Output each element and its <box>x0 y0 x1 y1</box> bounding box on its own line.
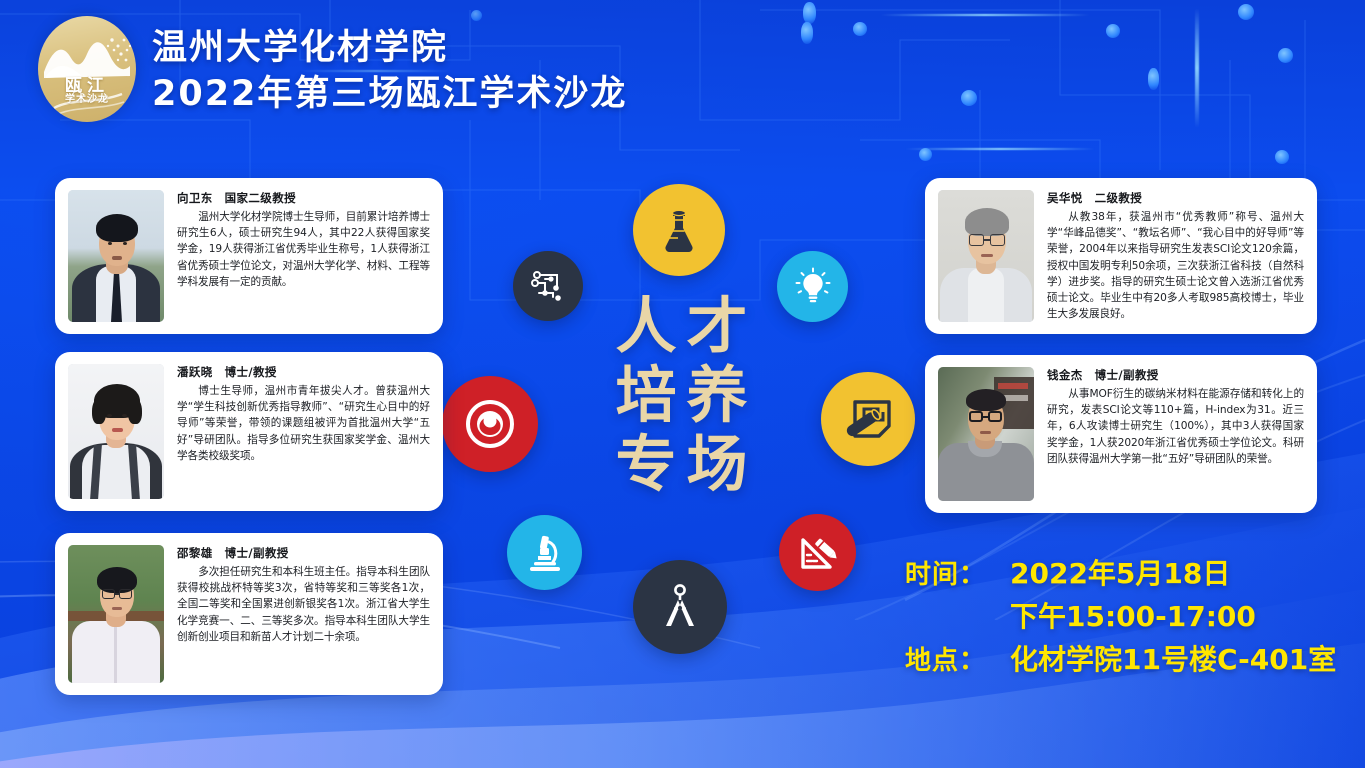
profile-bio: 多次担任研究生和本科生班主任。指导本科生团队获得校挑战杯特等奖3次，省特等奖和三… <box>177 564 430 645</box>
glow-dot <box>961 90 977 106</box>
event-place-row: 地点： 化材学院11号楼C-401室 <box>905 638 1336 678</box>
glow-dot <box>1275 150 1289 164</box>
microscope-icon[interactable] <box>507 515 582 590</box>
profile-name: 潘跃晓 博士/教授 <box>177 364 430 380</box>
diploma-icon[interactable] <box>821 372 915 466</box>
poster-header: 瓯江 学术沙龙 温州大学化材学院 2022年第三场瓯江学术沙龙 <box>38 16 627 122</box>
profile-photo <box>68 364 164 499</box>
event-time-value-2: 下午15:00-17:00 <box>1010 595 1256 635</box>
profile-bio: 博士生导师，温州市青年拔尖人才。曾获温州大学“学生科技创新优秀指导教师”、“研究… <box>177 383 430 464</box>
event-time-label: 时间： <box>905 554 1010 591</box>
diploma-glyph <box>841 392 895 446</box>
circuit-glyph <box>529 267 567 305</box>
event-time-value: 2022年5月18日 <box>1010 552 1230 592</box>
center-title-line-3: 专场 <box>574 431 789 500</box>
logo-subtitle: 学术沙龙 <box>38 90 136 105</box>
profile-body: 邵黎雄 博士/副教授 多次担任研究生和本科生班主任。指导本科生团队获得校挑战杯特… <box>177 545 430 683</box>
profile-photo <box>68 545 164 683</box>
compass-glyph <box>655 582 705 632</box>
profile-name: 向卫东 国家二级教授 <box>177 190 430 206</box>
event-place-label: 地点： <box>905 640 1010 677</box>
event-details: 时间： 2022年5月18日 下午15:00-17:00 地点： 化材学院11号… <box>905 552 1336 681</box>
profile-card[interactable]: 邵黎雄 博士/副教授 多次担任研究生和本科生班主任。指导本科生团队获得校挑战杯特… <box>55 533 443 695</box>
ruler-pencil-icon[interactable] <box>779 514 856 591</box>
profile-body: 潘跃晓 博士/教授 博士生导师，温州市青年拔尖人才。曾获温州大学“学生科技创新优… <box>177 364 430 499</box>
profile-photo <box>68 190 164 322</box>
ruler-pencil-glyph <box>796 531 840 575</box>
profile-photo <box>938 367 1034 501</box>
profile-name: 吴华悦 二级教授 <box>1047 190 1304 206</box>
profile-name: 邵黎雄 博士/副教授 <box>177 545 430 561</box>
profile-body: 向卫东 国家二级教授 温州大学化材学院博士生导师，目前累计培养博士研究生6人，硕… <box>177 190 430 322</box>
center-title-line-2: 培养 <box>574 362 789 431</box>
profile-name: 钱金杰 博士/副教授 <box>1047 367 1304 383</box>
target-eye-icon[interactable] <box>442 376 538 472</box>
glow-line <box>905 148 1095 150</box>
target-glyph <box>461 395 519 453</box>
microscope-glyph <box>524 532 566 574</box>
glow-dot <box>1278 48 1293 63</box>
glow-dot <box>1106 24 1120 38</box>
glow-dot <box>853 22 867 36</box>
profile-card[interactable]: 钱金杰 博士/副教授 从事MOF衍生的碳纳米材料在能源存储和转化上的研究，发表S… <box>925 355 1317 513</box>
glow-dot <box>801 22 813 44</box>
profile-bio: 从事MOF衍生的碳纳米材料在能源存储和转化上的研究，发表SCI论文等110+篇，… <box>1047 386 1304 467</box>
center-title: 人才 培养 专场 <box>574 293 789 500</box>
event-place-value: 化材学院11号楼C-401室 <box>1010 638 1336 678</box>
flask-glyph <box>655 206 703 254</box>
lightbulb-glyph <box>793 267 833 307</box>
glow-dot <box>1238 4 1254 20</box>
glow-line <box>880 14 1090 16</box>
ou-jiang-salon-logo: 瓯江 学术沙龙 <box>38 16 136 122</box>
glow-line <box>1195 8 1199 128</box>
header-title-line2: 2022年第三场瓯江学术沙龙 <box>152 72 627 116</box>
header-title-line1: 温州大学化材学院 <box>152 26 627 70</box>
mountain-icon <box>38 16 136 122</box>
profile-bio: 从教38年，获温州市“优秀教师”称号、温州大学“华峰品德奖”、“教坛名师”、“我… <box>1047 209 1304 322</box>
profile-card[interactable]: 吴华悦 二级教授 从教38年，获温州市“优秀教师”称号、温州大学“华峰品德奖”、… <box>925 178 1317 334</box>
compass-divider-icon[interactable] <box>633 560 727 654</box>
event-time-row: 时间： 2022年5月18日 <box>905 552 1336 592</box>
event-time-row-2: 下午15:00-17:00 <box>905 595 1336 635</box>
glow-dot <box>803 2 816 24</box>
profile-body: 吴华悦 二级教授 从教38年，获温州市“优秀教师”称号、温州大学“华峰品德奖”、… <box>1047 190 1304 322</box>
header-titles: 温州大学化材学院 2022年第三场瓯江学术沙龙 <box>152 22 627 116</box>
profile-bio: 温州大学化材学院博士生导师，目前累计培养博士研究生6人，硕士研究生94人，其中2… <box>177 209 430 290</box>
profile-body: 钱金杰 博士/副教授 从事MOF衍生的碳纳米材料在能源存储和转化上的研究，发表S… <box>1047 367 1304 501</box>
glow-dot <box>1148 68 1159 90</box>
profile-photo <box>938 190 1034 322</box>
glow-dot <box>919 148 932 161</box>
profile-card[interactable]: 潘跃晓 博士/教授 博士生导师，温州市青年拔尖人才。曾获温州大学“学生科技创新优… <box>55 352 443 511</box>
center-title-line-1: 人才 <box>574 293 789 362</box>
circuit-node-icon[interactable] <box>513 251 583 321</box>
flask-icon[interactable] <box>633 184 725 276</box>
profile-card[interactable]: 向卫东 国家二级教授 温州大学化材学院博士生导师，目前累计培养博士研究生6人，硕… <box>55 178 443 334</box>
